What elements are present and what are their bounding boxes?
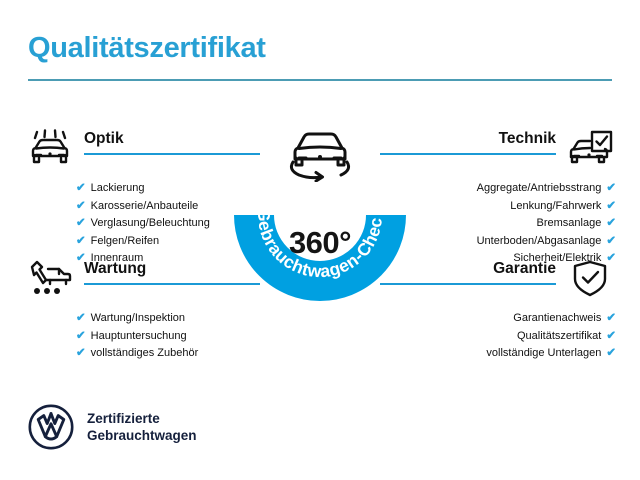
page-title: Qualitätszertifikat [28, 34, 612, 63]
list-item-label: Qualitätszertifikat [517, 330, 601, 342]
footer-line-2: Gebrauchtwagen [87, 427, 197, 444]
section-optik: Optik ✔Lackierung ✔Karosserie/Anbauteile… [24, 128, 260, 268]
list-item: Lenkung/Fahrwerk✔ [380, 198, 616, 216]
list-item-label: Lackierung [91, 182, 145, 194]
list-item: ✔Lackierung [24, 180, 260, 198]
title-block: Qualitätszertifikat [28, 34, 612, 81]
list-item: ✔Felgen/Reifen [24, 233, 260, 251]
footer-brand: Zertifizierte Gebrauchtwagen [28, 404, 197, 450]
wrench-car-service-icon [24, 258, 76, 300]
check-icon: ✔ [76, 347, 86, 359]
volkswagen-logo [28, 404, 74, 450]
check-icon: ✔ [606, 235, 616, 247]
list-item-label: Aggregate/Antriebsstrang [477, 182, 602, 194]
check-icon: ✔ [76, 312, 86, 324]
check-icon: ✔ [76, 200, 86, 212]
checklist-technik: Aggregate/Antriebsstrang✔ Lenkung/Fahrwe… [380, 180, 616, 268]
shield-check-icon [564, 258, 616, 300]
list-item-label: Verglasung/Beleuchtung [91, 217, 210, 229]
section-technik: Technik Aggregate/Antriebsstrang✔ Lenkun… [380, 128, 616, 268]
list-item: ✔Wartung/Inspektion [24, 310, 260, 328]
checklist-optik: ✔Lackierung ✔Karosserie/Anbauteile ✔Verg… [24, 180, 260, 268]
footer-line-1: Zertifizierte [87, 410, 197, 427]
list-item-label: Garantienachweis [513, 312, 601, 324]
checklist-garantie: Garantienachweis✔ Qualitätszertifikat✔ v… [380, 310, 616, 363]
check-icon: ✔ [606, 330, 616, 342]
list-item-label: Wartung/Inspektion [91, 312, 185, 324]
list-item: Bremsanlage✔ [380, 215, 616, 233]
footer-text: Zertifizierte Gebrauchtwagen [87, 410, 197, 444]
list-item-label: Unterboden/Abgasanlage [477, 235, 602, 247]
list-item-label: Felgen/Reifen [91, 235, 160, 247]
check-icon: ✔ [606, 347, 616, 359]
list-item-label: Bremsanlage [537, 217, 602, 229]
list-item: ✔vollständiges Zubehör [24, 345, 260, 363]
check-icon: ✔ [606, 182, 616, 194]
badge-360-check: Gebrauchtwagen-Check 360° [227, 122, 413, 308]
list-item-label: Karosserie/Anbauteile [91, 200, 199, 212]
car-polish-shine-icon [24, 128, 76, 170]
list-item: ✔Karosserie/Anbauteile [24, 198, 260, 216]
check-icon: ✔ [76, 217, 86, 229]
check-icon: ✔ [606, 200, 616, 212]
list-item: vollständige Unterlagen✔ [380, 345, 616, 363]
section-wartung: Wartung ✔Wartung/Inspektion ✔Hauptunters… [24, 258, 260, 363]
list-item: Qualitätszertifikat✔ [380, 328, 616, 346]
check-icon: ✔ [76, 235, 86, 247]
list-item-label: Hauptuntersuchung [91, 330, 187, 342]
list-item: Unterboden/Abgasanlage✔ [380, 233, 616, 251]
list-item: ✔Verglasung/Beleuchtung [24, 215, 260, 233]
check-icon: ✔ [76, 330, 86, 342]
list-item: Garantienachweis✔ [380, 310, 616, 328]
checklist-wartung: ✔Wartung/Inspektion ✔Hauptuntersuchung ✔… [24, 310, 260, 363]
section-header: Technik [380, 128, 616, 174]
title-divider [28, 79, 612, 81]
section-header: Garantie [380, 258, 616, 304]
car-checkbox-icon [564, 128, 616, 170]
section-garantie: Garantie Garantienachweis✔ Qualitätszert… [380, 258, 616, 363]
list-item-label: vollständige Unterlagen [486, 347, 601, 359]
section-header: Optik [24, 128, 260, 174]
section-header: Wartung [24, 258, 260, 304]
list-item: Aggregate/Antriebsstrang✔ [380, 180, 616, 198]
list-item-label: Lenkung/Fahrwerk [510, 200, 601, 212]
badge-center-label: 360° [227, 225, 413, 261]
list-item: ✔Hauptuntersuchung [24, 328, 260, 346]
check-icon: ✔ [606, 217, 616, 229]
car-rotate-360-icon [283, 124, 357, 182]
check-icon: ✔ [76, 182, 86, 194]
list-item-label: vollständiges Zubehör [91, 347, 199, 359]
check-icon: ✔ [606, 312, 616, 324]
